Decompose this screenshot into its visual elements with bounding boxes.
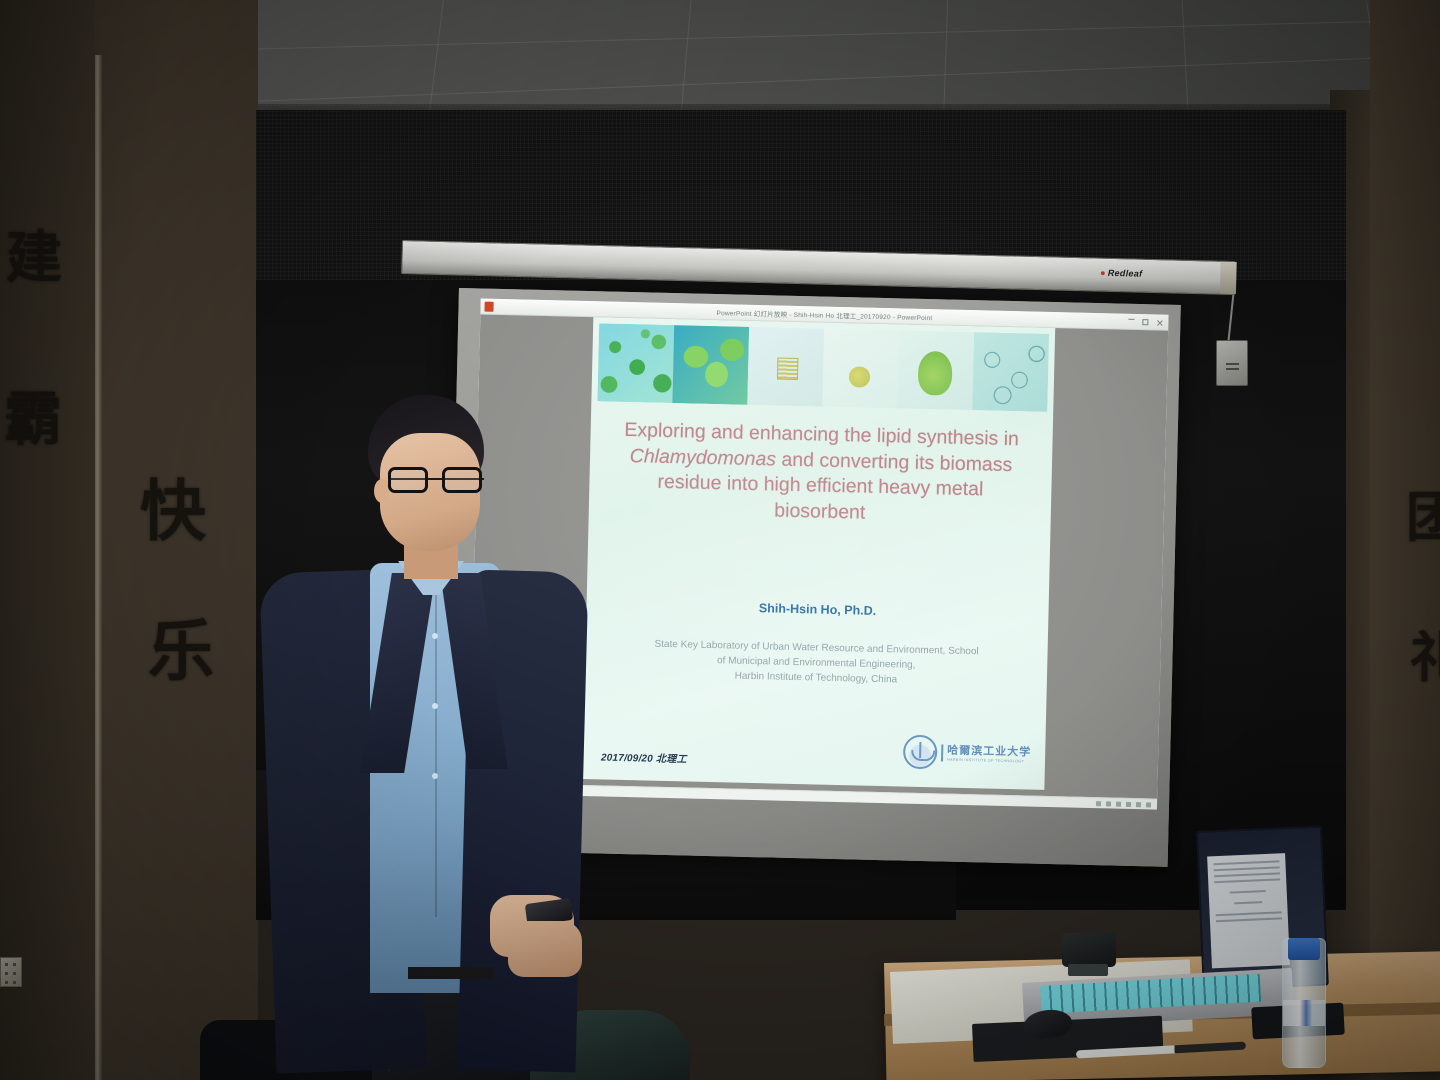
title-species-name: Chlamydomonas [630, 445, 777, 470]
affiliation-line-2: of Municipal and Environmental Engineeri… [717, 655, 916, 671]
algae-image-4 [822, 329, 899, 409]
screen-brand-label: ●Redleaf [1100, 268, 1143, 279]
calligraphy-char: 霸 [4, 390, 62, 448]
calligraphy-char: 快 [140, 478, 206, 544]
slide-date-venue: 2017/09/20 北理工 [601, 748, 687, 765]
projector-wall-control[interactable] [1216, 340, 1248, 386]
university-logo: 哈爾滨工业大学 HARBIN INSTITUTE OF TECHNOLOGY [903, 735, 1032, 772]
view-controls[interactable] [1096, 801, 1151, 807]
normal-view-icon[interactable] [1096, 801, 1101, 806]
algae-image-2 [672, 325, 749, 405]
bottle-cap [1288, 938, 1320, 960]
eyeglasses-icon [388, 467, 484, 493]
close-icon[interactable] [1156, 319, 1162, 325]
screen-case-endcap [1220, 262, 1237, 294]
power-outlet-plate [0, 957, 22, 987]
slide-surface: Exploring and enhancing the lipid synthe… [582, 317, 1055, 790]
sorter-view-icon[interactable] [1106, 801, 1111, 806]
algae-image-5 [897, 330, 974, 410]
left-wall-dark-panel [0, 0, 95, 1080]
algae-image-3 [747, 327, 824, 407]
reading-view-icon[interactable] [1116, 802, 1121, 807]
university-name-en: HARBIN INSTITUTE OF TECHNOLOGY [947, 757, 1031, 763]
bottle-label [1283, 1000, 1325, 1026]
slide-title: Exploring and enhancing the lipid synthe… [615, 418, 1027, 531]
algae-image-1 [597, 323, 674, 403]
algae-image-6 [972, 332, 1049, 412]
title-line-3: residue into high efficient heavy metal [657, 471, 983, 501]
laptop-screen-document [1207, 853, 1290, 968]
calligraphy-char: 建 [6, 230, 62, 286]
minimize-icon[interactable] [1128, 319, 1134, 325]
calligraphy-char: 乐 [148, 618, 214, 684]
university-logo-text: 哈爾滨工业大学 HARBIN INSTITUTE OF TECHNOLOGY [941, 744, 1031, 763]
wall-seam [95, 55, 102, 1080]
calligraphy-char: 礼 [1410, 630, 1440, 684]
calligraphy-char: 团 [1406, 490, 1440, 544]
algae-image-strip [597, 323, 1049, 412]
brand-dot-icon: ● [1100, 268, 1106, 278]
presentation-room-photo: 建 霸 快 乐 团 礼 ●Redleaf PowerPoint 幻灯片放映 - … [0, 0, 1440, 1080]
hand-right [508, 921, 582, 977]
slide-author: Shih-Hsin Ho, Ph.D. [586, 597, 1048, 622]
zoom-in-icon[interactable] [1146, 802, 1151, 807]
hit-emblem-icon [903, 735, 938, 770]
title-line-2-rest: and converting its biomass [776, 448, 1013, 476]
presenter [258, 395, 588, 1080]
power-adapter [1062, 933, 1116, 967]
slide-affiliation: State Key Laboratory of Urban Water Reso… [613, 636, 1020, 691]
belt [408, 967, 494, 979]
maximize-icon[interactable] [1142, 319, 1148, 325]
affiliation-line-3: Harbin Institute of Technology, China [735, 671, 898, 686]
affiliation-line-1: State Key Laboratory of Urban Water Reso… [654, 639, 978, 658]
ceiling-grid-line [255, 20, 1440, 50]
university-name-cn: 哈爾滨工业大学 [947, 744, 1031, 757]
zoom-out-icon[interactable] [1136, 802, 1141, 807]
slideshow-icon[interactable] [1126, 802, 1131, 807]
title-line-4: biosorbent [774, 500, 866, 524]
